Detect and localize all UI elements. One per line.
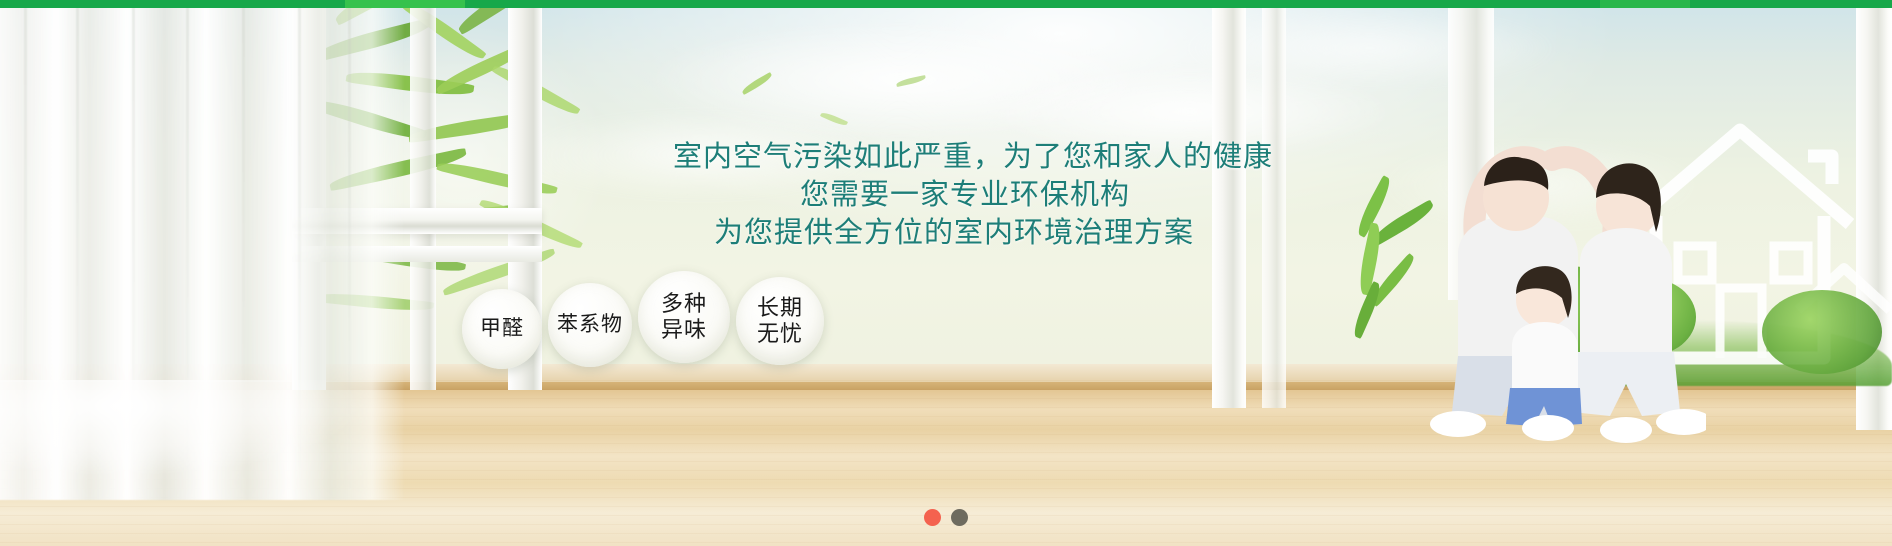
carousel-dot-2[interactable] [951,509,968,526]
badge-benzene[interactable]: 苯系物 [548,283,632,367]
badge-longterm-line-1: 长期 [757,295,803,321]
hero-banner: 室内空气污染如此严重，为了您和家人的健康 您需要一家专业环保机构 为您提供全方位… [0,0,1892,546]
carousel-dots [0,509,1892,526]
badge-longterm-line-2: 无忧 [757,321,803,347]
feature-badge-group: 甲醛 苯系物 多种 异味 长期 无忧 [462,271,824,369]
curtain-hem [0,380,420,510]
badge-longterm[interactable]: 长期 无忧 [736,277,824,365]
badge-odors[interactable]: 多种 异味 [638,271,730,363]
badge-odors-line-1: 多种 [661,291,707,317]
badge-odors-line-2: 异味 [661,317,707,343]
floating-leaves [700,60,960,200]
family-photo [1326,94,1706,446]
pillar-right-a [1212,0,1246,408]
top-green-strip [0,0,1892,8]
carousel-dot-1[interactable] [924,509,941,526]
badge-benzene-line-1: 苯系物 [557,313,623,338]
badge-formaldehyde-line-1: 甲醛 [480,317,524,342]
pillar-right-b [1262,0,1286,408]
badge-formaldehyde[interactable]: 甲醛 [462,289,542,369]
